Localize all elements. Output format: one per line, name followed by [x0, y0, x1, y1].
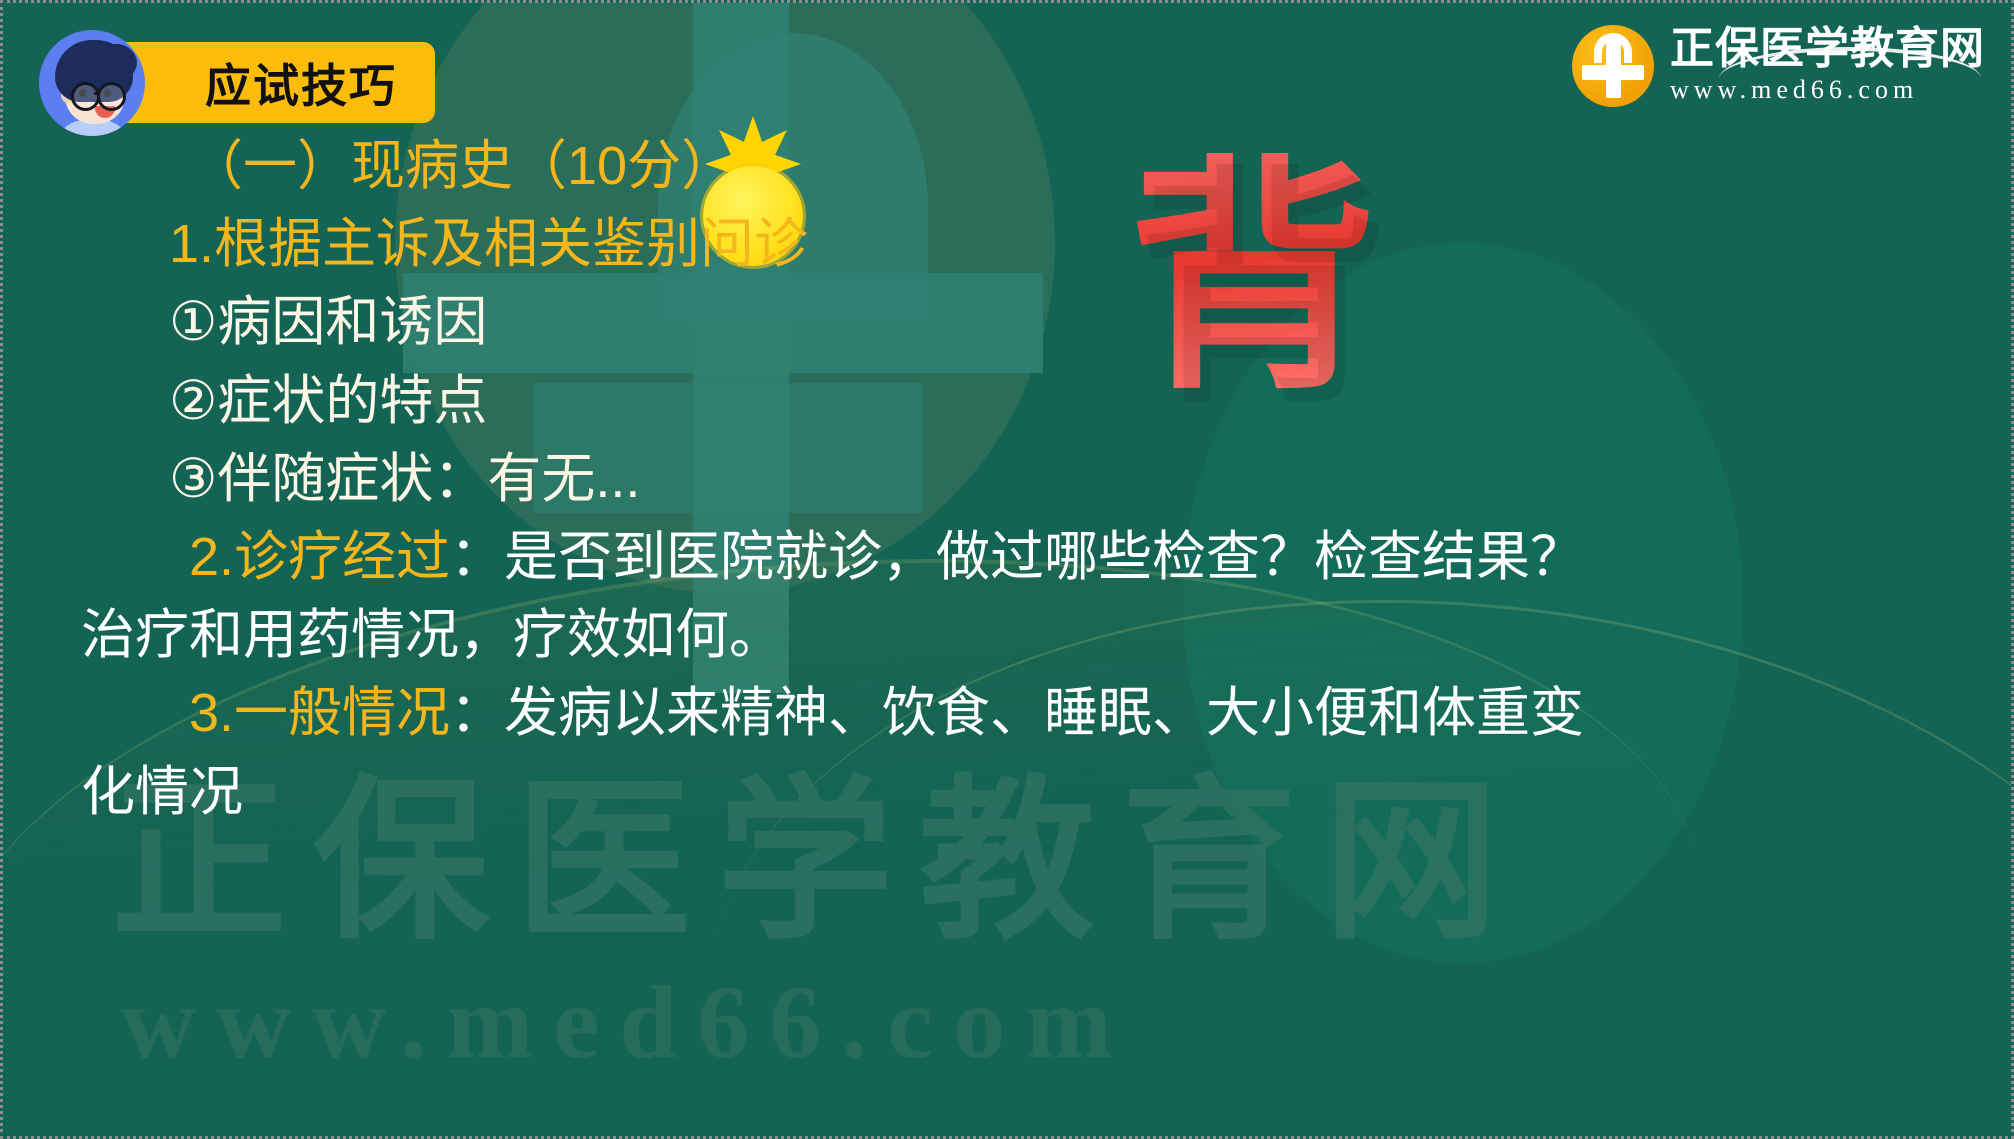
student-avatar-icon — [39, 30, 145, 136]
watermark-url: www.med66.com — [121, 963, 1132, 1082]
content-sub-item-2: ②症状的特点 — [81, 366, 1601, 436]
site-logo: 正保医学教育网 www.med66.com — [1572, 25, 1985, 107]
content-item-2-continued: 治疗和用药情况，疗效如何。 — [81, 600, 1601, 670]
med66-cross-logo-icon — [1572, 25, 1654, 107]
content-item-2: 2.诊疗经过：是否到医院就诊，做过哪些检查？检查结果？ — [81, 522, 1601, 592]
content-item-2-label: 2.诊疗经过 — [189, 527, 450, 587]
content-heading: （一）现病史（10分） — [81, 131, 1601, 201]
slide-canvas: 正保医学教育网 www.med66.com 背 应试技巧 — [0, 0, 2014, 1139]
content-item-2-text: ：是否到医院就诊，做过哪些检查？检查结果？ — [450, 527, 1584, 587]
lesson-content: （一）现病史（10分） 1.根据主诉及相关鉴别问诊 ①病因和诱因 ②症状的特点 … — [81, 131, 1601, 827]
banner-label: 应试技巧 — [205, 50, 397, 116]
logo-url-text: www.med66.com — [1670, 75, 1985, 105]
section-banner: 应试技巧 — [95, 42, 435, 123]
content-sub-item-1: ①病因和诱因 — [81, 287, 1601, 357]
content-item-3-text: ：发病以来精神、饮食、睡眠、大小便和体重变 — [450, 683, 1584, 743]
content-item-3: 3.一般情况：发病以来精神、饮食、睡眠、大小便和体重变 — [81, 678, 1601, 748]
content-sub-item-3: ③伴随症状：有无... — [81, 444, 1601, 514]
content-item-3-label: 3.一般情况 — [189, 683, 450, 743]
content-item-3-continued: 化情况 — [81, 757, 1601, 827]
content-item-1: 1.根据主诉及相关鉴别问诊 — [81, 209, 1601, 279]
